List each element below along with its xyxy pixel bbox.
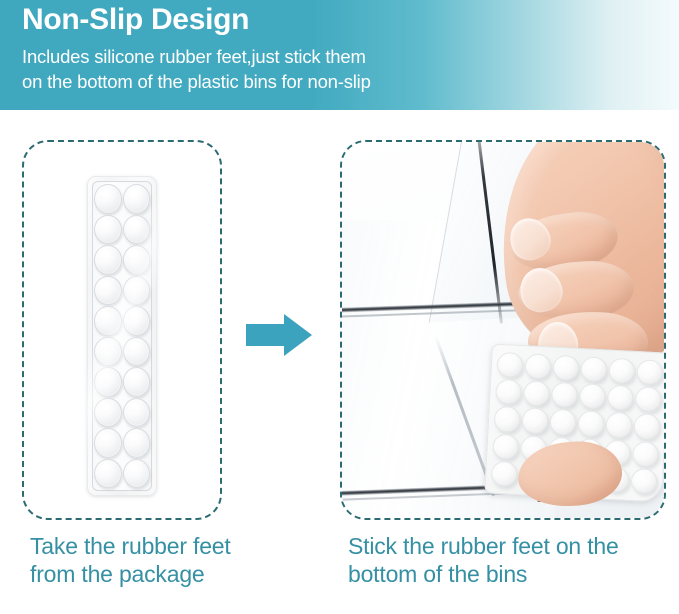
rubber-foot-dome (552, 355, 579, 382)
blister-dome-grid (92, 181, 152, 491)
rubber-foot-dome (94, 428, 122, 458)
rubber-foot-dome (636, 359, 663, 386)
rubber-foot-dome (94, 337, 122, 367)
rubber-foot-dome (123, 306, 151, 336)
rubber-foot-dome (523, 380, 550, 407)
banner-subtitle-line-1: Includes silicone rubber feet,just stick… (22, 44, 371, 69)
rubber-foot-dome (491, 460, 518, 487)
rubber-foot-dome (94, 215, 122, 245)
rubber-foot-dome (496, 352, 523, 379)
rubber-foot-dome (493, 406, 520, 433)
bin-scene-image (342, 142, 664, 518)
caption-right: Stick the rubber feet on the bottom of t… (348, 532, 668, 588)
rubber-foot-dome (94, 245, 122, 275)
rubber-foot-dome (577, 410, 604, 437)
step-panel-right (340, 140, 666, 520)
rubber-foot-dome (633, 413, 660, 440)
rubber-foot-dome (608, 358, 635, 385)
rubber-foot-dome (630, 468, 657, 495)
rubber-foot-dome (94, 367, 122, 397)
rubber-foot-dome (521, 408, 548, 435)
rubber-foot-dome (123, 276, 151, 306)
rubber-foot-dome (635, 386, 662, 413)
rubber-foot-dome (94, 306, 122, 336)
rubber-foot-dome (123, 428, 151, 458)
banner-subtitle: Includes silicone rubber feet,just stick… (22, 44, 371, 94)
rubber-foot-dome (524, 353, 551, 380)
rubber-foot-dome (607, 385, 634, 412)
rubber-foot-dome (123, 459, 151, 489)
rubber-foot-dome (94, 184, 122, 214)
header-banner: Non-Slip Design Includes silicone rubber… (0, 0, 679, 110)
rubber-foot-dome (123, 337, 151, 367)
rubber-foot-dome (549, 409, 576, 436)
rubber-foot-dome (551, 382, 578, 409)
rubber-foot-dome (123, 215, 151, 245)
caption-left: Take the rubber feet from the package (30, 532, 240, 588)
rubber-foot-dome (632, 441, 659, 468)
blister-pack-image (87, 176, 157, 496)
rubber-foot-dome (605, 412, 632, 439)
rubber-foot-dome (94, 459, 122, 489)
rubber-foot-dome (580, 356, 607, 383)
rubber-foot-dome (123, 184, 151, 214)
banner-subtitle-line-2: on the bottom of the plastic bins for no… (22, 69, 371, 94)
rubber-foot-dome (94, 398, 122, 428)
arrow-right-icon (246, 312, 312, 358)
step-panel-left (22, 140, 222, 520)
rubber-foot-dome (123, 398, 151, 428)
banner-title: Non-Slip Design (22, 3, 249, 37)
rubber-foot-dome (495, 379, 522, 406)
rubber-foot-dome (123, 245, 151, 275)
rubber-foot-dome (579, 383, 606, 410)
rubber-foot-dome (492, 433, 519, 460)
rubber-foot-dome (94, 276, 122, 306)
rubber-foot-dome (123, 367, 151, 397)
